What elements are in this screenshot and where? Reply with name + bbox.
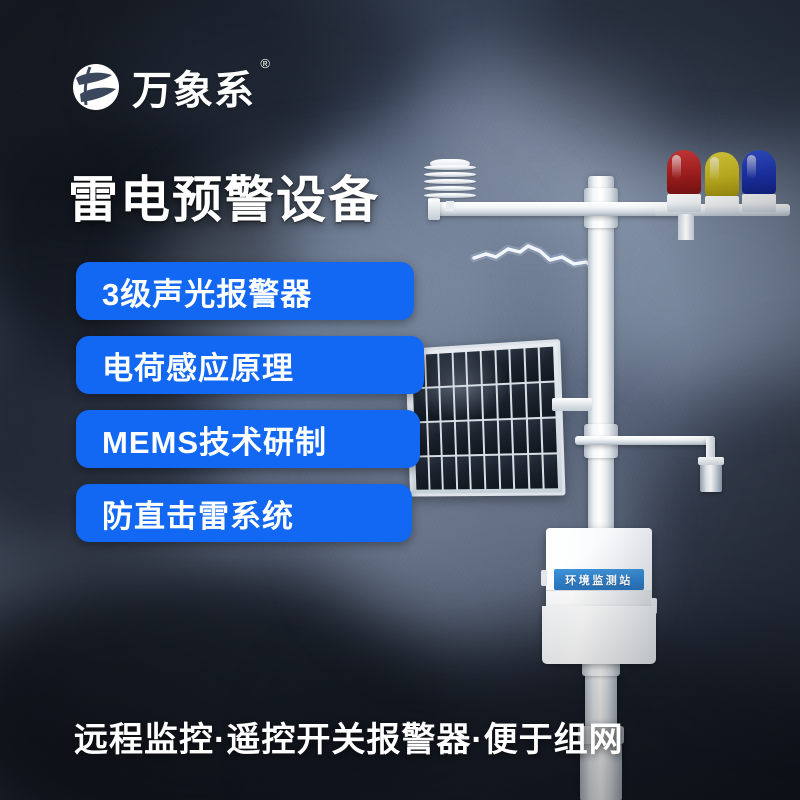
feature-pill-alarm: 3级声光报警器 [76,262,414,320]
feature-pill-protection: 防直击雷系统 [76,484,412,542]
footer-tagline: 远程监控·遥控开关报警器·便于组网 [74,712,624,761]
registered-mark: ® [260,56,271,71]
feature-pill-principle: 电荷感应原理 [76,336,424,394]
feature-pill-mems: MEMS技术研制 [76,410,420,468]
page-title: 雷电预警设备 [68,160,380,232]
brand-name: 万象系 ® [132,58,255,116]
swirl-sphere-icon [70,61,122,113]
brand-name-text: 万象系 [132,69,255,113]
poster-canvas: 环境监测站 万象系 ® 雷电预警设备 3级声光报警器 电荷感应原理 MEMS技术… [0,0,800,800]
brand-logo: 万象系 ® [70,58,255,116]
feature-list: 3级声光报警器 电荷感应原理 MEMS技术研制 防直击雷系统 [76,262,424,542]
